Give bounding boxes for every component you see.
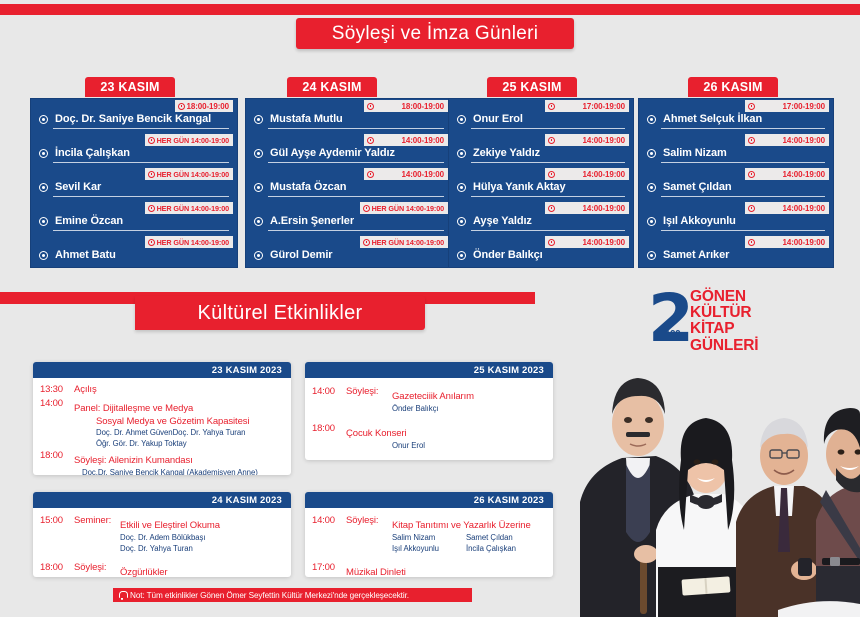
clock-icon <box>548 137 555 144</box>
time-text: 17:00-19:00 <box>783 102 826 111</box>
person-name: Mustafa Mutlu <box>270 113 343 125</box>
logo-anniversary: 100 <box>665 329 680 340</box>
time-chip: 14:00-19:00 <box>745 202 829 214</box>
signing-column-nov26: 17:00-19:00 Ahmet Selçuk İlkan 14:00-19:… <box>638 98 834 268</box>
time-chip: HER GÜN 14:00-19:00 <box>145 236 233 248</box>
speaker-name: Öğr. Gör. Dr. Yakup Toktay <box>74 439 283 450</box>
time-chip: HER GÜN 14:00-19:00 <box>145 134 233 146</box>
time-text: HER GÜN 14:00-19:00 <box>372 204 444 213</box>
time-text: HER GÜN 14:00-19:00 <box>157 136 229 145</box>
event-label: Söyleşi: <box>74 562 120 577</box>
date-badge-nov26: 26 KASIM <box>688 77 778 97</box>
time-chip: 18:00-19:00 <box>175 100 234 112</box>
event-item[interactable]: 13:30 Açılış <box>40 384 283 397</box>
event-title: Kitap Tanıtımı ve Yazarlık Üzerine <box>392 520 531 531</box>
signing-entry[interactable]: 14:00-19:00 Önder Balıkçı <box>449 235 633 269</box>
person-name: Zekiye Yaldız <box>473 147 540 159</box>
event-time: 14:00 <box>312 515 346 554</box>
clock-icon <box>748 171 755 178</box>
signing-entry[interactable]: 14:00-19:00 Mustafa Özcan <box>246 167 452 201</box>
clock-icon <box>148 205 155 212</box>
speaker-name: İncila Çalışkan <box>466 544 516 553</box>
clock-icon <box>367 171 374 178</box>
bullet-icon <box>39 149 48 158</box>
divider <box>471 162 625 163</box>
cultural-events-banner: Kültürel Etkinlikler <box>135 296 425 330</box>
signing-entry[interactable]: HER GÜN 14:00-19:00 Sevil Kar <box>31 167 237 201</box>
time-chip: 17:00-19:00 <box>745 100 829 112</box>
person-name: Mustafa Özcan <box>270 181 346 193</box>
bullet-icon <box>457 149 466 158</box>
divider <box>661 162 825 163</box>
person-name: Onur Erol <box>473 113 523 125</box>
divider <box>268 230 444 231</box>
time-text: 14:00-19:00 <box>783 136 826 145</box>
event-time: 18:00 <box>40 562 74 577</box>
speaker-name: Doç. Dr. Adem Bölükbaşı <box>120 533 220 544</box>
event-title: Müzikal Dinleti <box>346 567 406 577</box>
person-name: A.Ersin Şenerler <box>270 215 354 227</box>
card-header: 23 KASIM 2023 <box>33 362 291 378</box>
signing-entry[interactable]: 17:00-19:00 Ahmet Selçuk İlkan <box>639 99 833 133</box>
event-label: Söyleşi: <box>346 515 392 554</box>
signing-days-title: Söyleşi ve İmza Günleri <box>332 23 538 45</box>
event-speakers: Salim NizamSamet Çıldan <box>392 533 531 544</box>
time-text: HER GÜN 14:00-19:00 <box>157 238 229 247</box>
bullet-icon <box>254 251 263 260</box>
time-chip: 14:00-19:00 <box>745 236 829 248</box>
signing-entry[interactable]: 14:00-19:00 Ayşe Yaldız <box>449 201 633 235</box>
bullet-icon <box>457 183 466 192</box>
event-speakers: Doç. Dr. Ahmet GüvenDoç. Dr. Yahya Turan <box>74 428 283 439</box>
time-chip: 14:00-19:00 <box>545 202 629 214</box>
person-name: Ahmet Batu <box>55 249 116 261</box>
person-name: Samet Arıker <box>663 249 729 261</box>
time-chip: HER GÜN 14:00-19:00 <box>145 202 233 214</box>
person-name: Salim Nizam <box>663 147 727 159</box>
clock-icon <box>548 239 555 246</box>
speaker-name: Doç. Dr. Yahya Turan <box>120 544 220 555</box>
cultural-card-nov25: 25 KASIM 2023 14:00 Söyleşi: Gazeteciiik… <box>305 362 553 460</box>
date-badge-nov25: 25 KASIM <box>487 77 577 97</box>
event-title: Gazeteciiik Anılarım <box>392 391 474 402</box>
time-text: 14:00-19:00 <box>583 204 626 213</box>
clock-icon <box>363 239 370 246</box>
signing-entry[interactable]: 14:00-19:00 Salim Nizam <box>639 133 833 167</box>
clock-icon <box>548 171 555 178</box>
bullet-icon <box>457 115 466 124</box>
time-text: HER GÜN 14:00-19:00 <box>157 170 229 179</box>
time-chip: 14:00-19:00 <box>745 168 829 180</box>
signing-entry[interactable]: 14:00-19:00 Gül Ayşe Aydemir Yaldız <box>246 133 452 167</box>
event-item[interactable]: 14:00 Söyleşi: Gazeteciiik Anılarım Önde… <box>312 386 545 415</box>
bullet-icon <box>457 251 466 260</box>
event-speakers: Işıl Akkoyunluİncila Çalışkan <box>392 544 531 555</box>
bullet-icon <box>39 183 48 192</box>
event-title: Etkili ve Eleştirel Okuma <box>120 520 220 531</box>
divider <box>661 128 825 129</box>
bullet-icon <box>39 251 48 260</box>
clock-icon <box>748 137 755 144</box>
bullet-icon <box>647 217 656 226</box>
signing-entry[interactable]: 14:00-19:00 Zekiye Yaldız <box>449 133 633 167</box>
clock-icon <box>178 103 185 110</box>
divider <box>53 162 229 163</box>
time-chip: HER GÜN 14:00-19:00 <box>360 236 448 248</box>
clock-icon <box>367 137 374 144</box>
signing-entry[interactable]: HER GÜN 14:00-19:00 Gürol Demir <box>246 235 452 269</box>
signing-entry[interactable]: HER GÜN 14:00-19:00 A.Ersin Şenerler <box>246 201 452 235</box>
time-chip: 18:00-19:00 <box>364 100 448 112</box>
event-item[interactable]: 14:00 Panel: Dijitalleşme ve Medya Sosya… <box>40 398 283 450</box>
speaker-name: Onur Erol <box>346 441 545 452</box>
event-title: Panel: Dijitalleşme ve Medya <box>74 403 193 414</box>
person-name: Hülya Yanık Aktay <box>473 181 565 193</box>
divider <box>471 230 625 231</box>
event-item[interactable]: 17:00 Müzikal Dinleti Ahmet Selçuk İlkan <box>312 562 545 577</box>
speaker-name: Doç. Dr. Yahya Turan <box>173 428 246 437</box>
time-chip: 14:00-19:00 <box>545 168 629 180</box>
event-label: Seminer: <box>74 515 120 554</box>
logo-line-2: KÜLTÜR <box>690 305 758 321</box>
person-name: Gürol Demir <box>270 249 332 261</box>
time-chip: 14:00-19:00 <box>745 134 829 146</box>
cultural-card-nov23: 23 KASIM 2023 13:30 Açılış 14:00 Panel: … <box>33 362 291 475</box>
divider <box>53 196 229 197</box>
divider <box>661 196 825 197</box>
signing-days-banner: Söyleşi ve İmza Günleri <box>296 18 574 49</box>
signing-entry[interactable]: 17:00-19:00 Onur Erol <box>449 99 633 133</box>
clock-icon <box>748 205 755 212</box>
logo-line-3: KİTAP <box>690 321 758 337</box>
time-text: 14:00-19:00 <box>402 136 445 145</box>
speakers-photo-illustration <box>578 352 860 617</box>
time-chip: 14:00-19:00 <box>545 236 629 248</box>
person-name: Ahmet Selçuk İlkan <box>663 113 762 125</box>
venue-note-text: Not: Tüm etkinlikler Gönen Ömer Seyfetti… <box>130 591 409 600</box>
time-text: 14:00-19:00 <box>783 238 826 247</box>
signing-entry[interactable]: HER GÜN 14:00-19:00 İncila Çalışkan <box>31 133 237 167</box>
person-name: Işıl Akkoyunlu <box>663 215 736 227</box>
event-title-line2: Sosyal Medya ve Gözetim Kapasitesi <box>74 416 283 429</box>
clock-icon <box>148 239 155 246</box>
event-label: Söyleşi: <box>346 386 392 415</box>
speaker-name: Işıl Akkoyunlu <box>392 544 466 555</box>
speaker-name: Samet Çıldan <box>466 533 513 542</box>
time-text: 14:00-19:00 <box>783 170 826 179</box>
time-text: HER GÜN 14:00-19:00 <box>372 238 444 247</box>
divider <box>53 128 229 129</box>
card-header: 24 KASIM 2023 <box>33 492 291 508</box>
logo-numeral: 2 <box>648 287 694 351</box>
clock-icon <box>367 103 374 110</box>
event-time: 15:00 <box>40 515 74 554</box>
time-text: 14:00-19:00 <box>783 204 826 213</box>
speaker-name: Salim Nizam <box>392 533 466 544</box>
signing-entry[interactable]: 14:00-19:00 Samet Arıker <box>639 235 833 269</box>
clock-icon <box>548 205 555 212</box>
person-name: Sevil Kar <box>55 181 101 193</box>
speaker-name: Doç. Dr. Ahmet Güven <box>96 428 173 439</box>
signing-entry[interactable]: 14:00-19:00 Samet Çıldan <box>639 167 833 201</box>
bullet-icon <box>39 115 48 124</box>
event-title: Özgürlükler <box>120 567 167 577</box>
person-name: İncila Çalışkan <box>55 147 130 159</box>
divider <box>268 196 444 197</box>
person-name: Doç. Dr. Saniye Bencik Kangal <box>55 113 211 125</box>
clock-icon <box>148 137 155 144</box>
bullet-icon <box>254 115 263 124</box>
event-item[interactable]: 18:00 Çocuk Konseri Onur Erol <box>312 423 545 452</box>
divider <box>268 162 444 163</box>
time-text: 14:00-19:00 <box>583 170 626 179</box>
time-chip: 14:00-19:00 <box>364 168 448 180</box>
event-time: 14:00 <box>312 386 346 415</box>
divider <box>471 196 625 197</box>
event-item[interactable]: 14:00 Söyleşi: Kitap Tanıtımı ve Yazarlı… <box>312 515 545 554</box>
bullet-icon <box>647 115 656 124</box>
time-text: 18:00-19:00 <box>402 102 445 111</box>
time-text: 14:00-19:00 <box>583 238 626 247</box>
person-name: Samet Çıldan <box>663 181 732 193</box>
time-text: 14:00-19:00 <box>402 170 445 179</box>
card-header: 25 KASIM 2023 <box>305 362 553 378</box>
bullet-icon <box>254 183 263 192</box>
divider <box>661 230 825 231</box>
signing-column-nov24: 18:00-19:00 Mustafa Mutlu 14:00-19:00 Gü… <box>245 98 453 268</box>
bullet-icon <box>457 217 466 226</box>
signing-entry[interactable]: HER GÜN 14:00-19:00 Emine Özcan <box>31 201 237 235</box>
signing-entry[interactable]: 18:00-19:00 Mustafa Mutlu <box>246 99 452 133</box>
signing-entry[interactable]: 14:00-19:00 Hülya Yanık Aktay <box>449 167 633 201</box>
signing-column-nov25: 17:00-19:00 Onur Erol 14:00-19:00 Zekiye… <box>448 98 634 268</box>
event-time: 14:00 <box>40 398 74 450</box>
cultural-card-nov26: 26 KASIM 2023 14:00 Söyleşi: Kitap Tanıt… <box>305 492 553 577</box>
venue-note-bar: Not: Tüm etkinlikler Gönen Ömer Seyfetti… <box>113 588 472 602</box>
time-chip: 17:00-19:00 <box>545 100 629 112</box>
person-name: Gül Ayşe Aydemir Yaldız <box>270 147 395 159</box>
event-title: Çocuk Konseri <box>346 428 406 439</box>
clock-icon <box>148 171 155 178</box>
clock-icon <box>548 103 555 110</box>
date-badge-nov24: 24 KASIM <box>287 77 377 97</box>
time-chip: 14:00-19:00 <box>364 134 448 146</box>
event-time: 18:00 <box>312 423 346 452</box>
card-header: 26 KASIM 2023 <box>305 492 553 508</box>
event-title: Söyleşi: Ailenizin Kumandası <box>74 455 193 466</box>
event-time: 18:00 <box>40 450 74 475</box>
date-badge-nov23: 23 KASIM <box>85 77 175 97</box>
festival-logo: 2 100 GÖNEN KÜLTÜR KİTAP GÜNLERİ <box>648 288 858 354</box>
bullet-icon <box>647 149 656 158</box>
top-accent-bar <box>0 4 860 15</box>
signing-entry[interactable]: HER GÜN 14:00-19:00 Ahmet Batu <box>31 235 237 269</box>
time-chip: 14:00-19:00 <box>545 134 629 146</box>
divider <box>268 128 444 129</box>
event-item[interactable]: 18:00 Söyleşi: Özgürlükler Mustafa Mutlu <box>40 562 283 577</box>
signing-entry[interactable]: 18:00-19:00 Doç. Dr. Saniye Bencik Kanga… <box>31 99 237 133</box>
speaker-name: Doç.Dr. Saniye Bencik Kangal (Akademisye… <box>74 468 283 475</box>
time-text: HER GÜN 14:00-19:00 <box>157 204 229 213</box>
bullet-icon <box>254 217 263 226</box>
clock-icon <box>748 103 755 110</box>
bell-icon <box>118 591 126 600</box>
divider <box>53 230 229 231</box>
bullet-icon <box>39 217 48 226</box>
person-name: Önder Balıkçı <box>473 249 543 261</box>
event-time: 13:30 <box>40 384 74 397</box>
time-chip: HER GÜN 14:00-19:00 <box>360 202 448 214</box>
time-text: 14:00-19:00 <box>583 136 626 145</box>
event-time: 17:00 <box>312 562 346 577</box>
time-text: 17:00-19:00 <box>583 102 626 111</box>
speaker-name: Önder Balıkçı <box>392 404 474 415</box>
bullet-icon <box>647 251 656 260</box>
signing-column-nov23: 18:00-19:00 Doç. Dr. Saniye Bencik Kanga… <box>30 98 238 268</box>
person-name: Emine Özcan <box>55 215 123 227</box>
signing-entry[interactable]: 14:00-19:00 Işıl Akkoyunlu <box>639 201 833 235</box>
divider <box>471 128 625 129</box>
time-text: 18:00-19:00 <box>187 102 230 111</box>
person-name: Ayşe Yaldız <box>473 215 532 227</box>
logo-wordmark: GÖNEN KÜLTÜR KİTAP GÜNLERİ <box>690 289 758 354</box>
time-chip: HER GÜN 14:00-19:00 <box>145 168 233 180</box>
bullet-icon <box>647 183 656 192</box>
speakers-photo <box>578 352 860 617</box>
bullet-icon <box>254 149 263 158</box>
clock-icon <box>363 205 370 212</box>
cultural-events-title: Kültürel Etkinlikler <box>198 302 363 325</box>
event-item[interactable]: 18:00 Söyleşi: Ailenizin Kumandası Doç.D… <box>40 450 283 475</box>
cultural-card-nov24: 24 KASIM 2023 15:00 Seminer: Etkili ve E… <box>33 492 291 577</box>
logo-line-1: GÖNEN <box>690 289 758 305</box>
event-item[interactable]: 15:00 Seminer: Etkili ve Eleştirel Okuma… <box>40 515 283 554</box>
clock-icon <box>748 239 755 246</box>
event-title: Açılış <box>74 384 283 397</box>
